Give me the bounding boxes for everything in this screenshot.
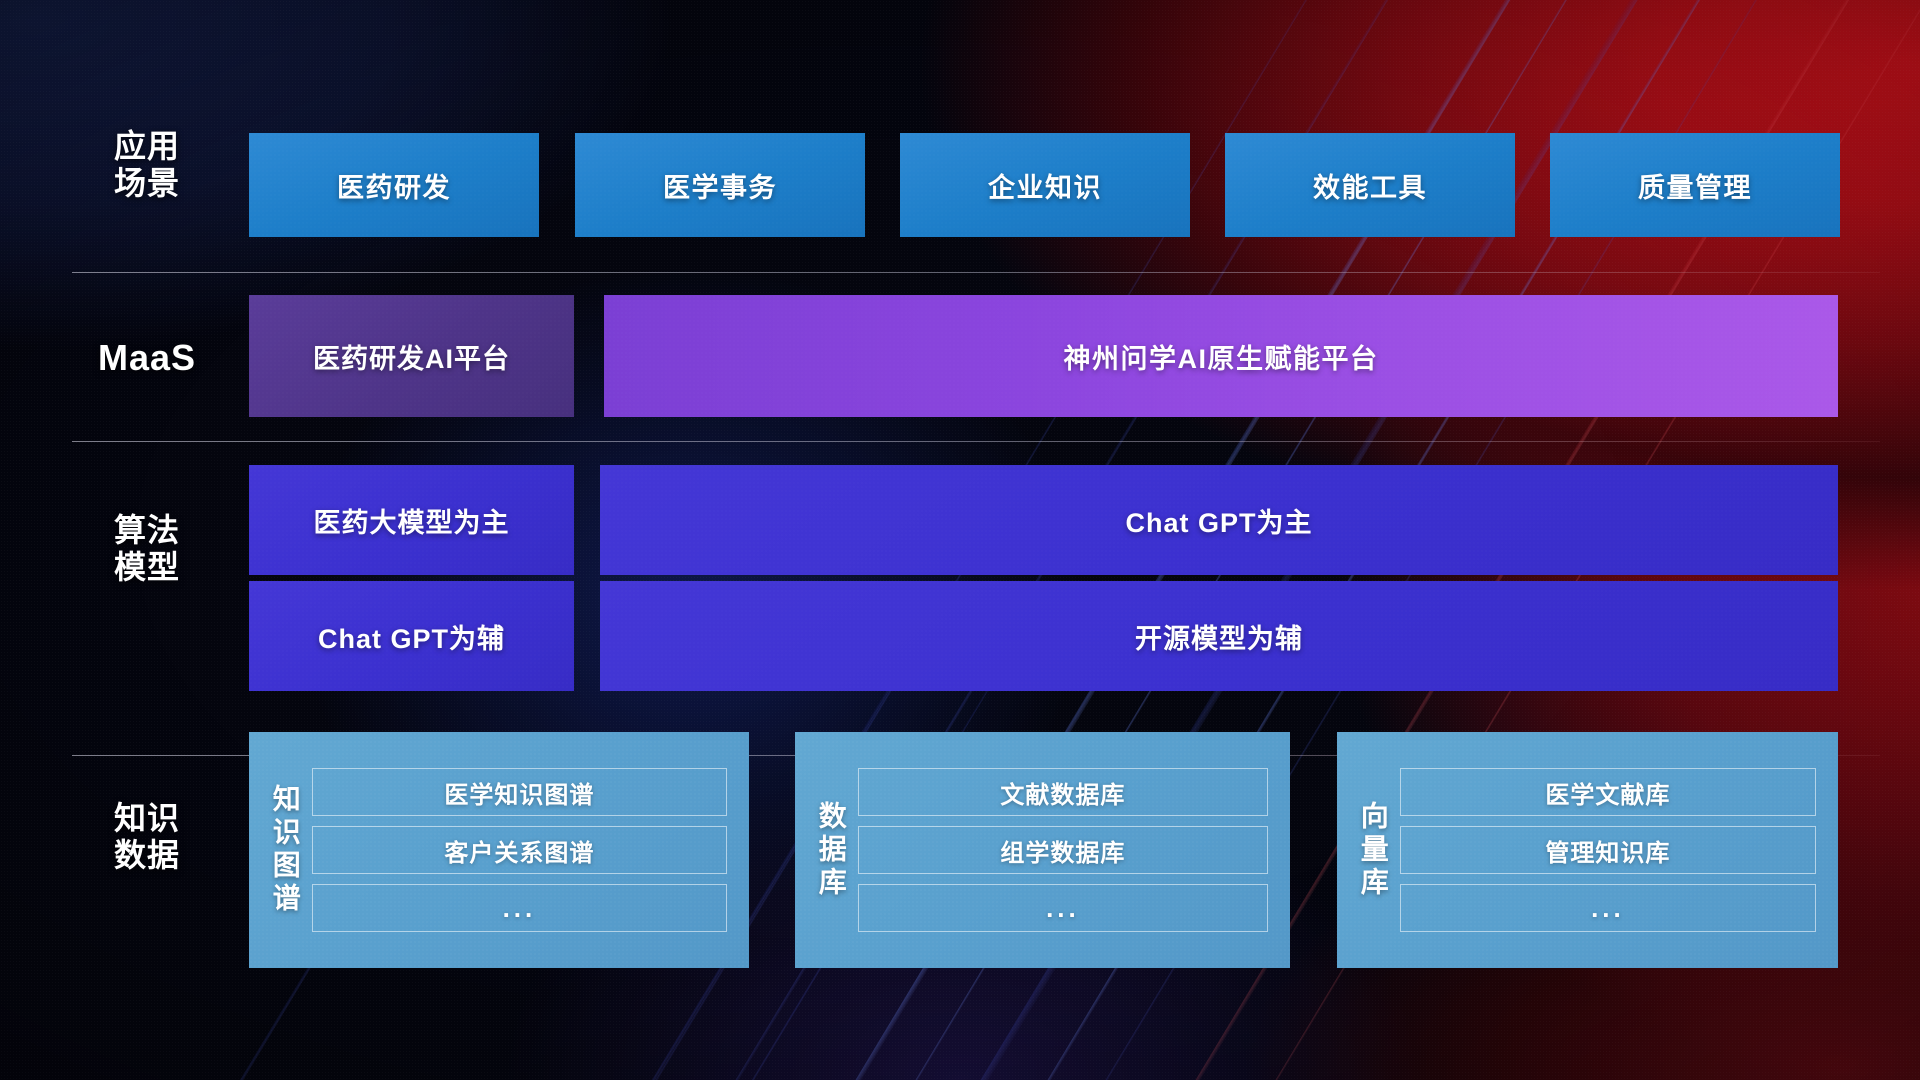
maas-box-label-1: 神州问学AI原生赋能平台: [1064, 337, 1379, 376]
divider-after-maas: [72, 441, 1880, 442]
row-label-maas: MaaS: [72, 337, 222, 379]
knowledge-group-vector-store[interactable]: 向量库 医学文献库 管理知识库 ...: [1337, 732, 1838, 968]
app-box-label-4: 质量管理: [1638, 166, 1752, 205]
app-box-3[interactable]: 效能工具: [1225, 133, 1515, 237]
knowledge-item-1-0[interactable]: 文献数据库: [858, 768, 1268, 816]
row-label-knowledge-data: 知识 数据: [72, 800, 222, 874]
app-box-label-2: 企业知识: [988, 166, 1102, 205]
app-box-label-3: 效能工具: [1313, 166, 1427, 205]
app-box-2[interactable]: 企业知识: [900, 133, 1190, 237]
maas-box-label-0: 医药研发AI平台: [313, 337, 510, 376]
knowledge-item-0-0[interactable]: 医学知识图谱: [312, 768, 727, 816]
maas-box-shenzhou-platform[interactable]: 神州问学AI原生赋能平台: [604, 295, 1838, 417]
knowledge-group-database[interactable]: 数据库 文献数据库 组学数据库 ...: [795, 732, 1290, 968]
algo-box-chatgpt-primary[interactable]: Chat GPT为主: [600, 465, 1838, 575]
app-box-label-1: 医学事务: [663, 166, 777, 205]
algo-box-label-3: 开源模型为辅: [1135, 617, 1303, 656]
knowledge-group-items-0: 医学知识图谱 客户关系图谱 ...: [306, 742, 739, 958]
knowledge-group-items-2: 医学文献库 管理知识库 ...: [1394, 742, 1828, 958]
app-box-label-0: 医药研发: [337, 166, 451, 205]
knowledge-item-1-1[interactable]: 组学数据库: [858, 826, 1268, 874]
knowledge-item-0-1[interactable]: 客户关系图谱: [312, 826, 727, 874]
knowledge-group-title-0: 知识图谱: [259, 742, 306, 958]
maas-box-medical-ai-platform[interactable]: 医药研发AI平台: [249, 295, 574, 417]
algo-box-medical-large-model-primary[interactable]: 医药大模型为主: [249, 465, 574, 575]
algo-box-label-1: Chat GPT为主: [1125, 501, 1312, 540]
divider-after-application: [72, 272, 1880, 273]
row-label-application-scenarios: 应用 场景: [72, 128, 222, 202]
row-label-algorithm-model: 算法 模型: [72, 512, 222, 586]
knowledge-item-2-0[interactable]: 医学文献库: [1400, 768, 1816, 816]
knowledge-group-items-1: 文献数据库 组学数据库 ...: [852, 742, 1280, 958]
app-box-1[interactable]: 医学事务: [575, 133, 865, 237]
algo-box-label-0: 医药大模型为主: [314, 501, 510, 540]
algo-box-label-2: Chat GPT为辅: [318, 617, 505, 656]
algo-box-opensource-secondary[interactable]: 开源模型为辅: [600, 581, 1838, 691]
knowledge-item-0-2[interactable]: ...: [312, 884, 727, 932]
app-box-4[interactable]: 质量管理: [1550, 133, 1840, 237]
knowledge-group-knowledge-graph[interactable]: 知识图谱 医学知识图谱 客户关系图谱 ...: [249, 732, 749, 968]
knowledge-item-1-2[interactable]: ...: [858, 884, 1268, 932]
knowledge-item-2-2[interactable]: ...: [1400, 884, 1816, 932]
knowledge-item-2-1[interactable]: 管理知识库: [1400, 826, 1816, 874]
knowledge-group-title-2: 向量库: [1347, 742, 1394, 958]
app-box-0[interactable]: 医药研发: [249, 133, 539, 237]
algo-box-chatgpt-secondary[interactable]: Chat GPT为辅: [249, 581, 574, 691]
knowledge-group-title-1: 数据库: [805, 742, 852, 958]
